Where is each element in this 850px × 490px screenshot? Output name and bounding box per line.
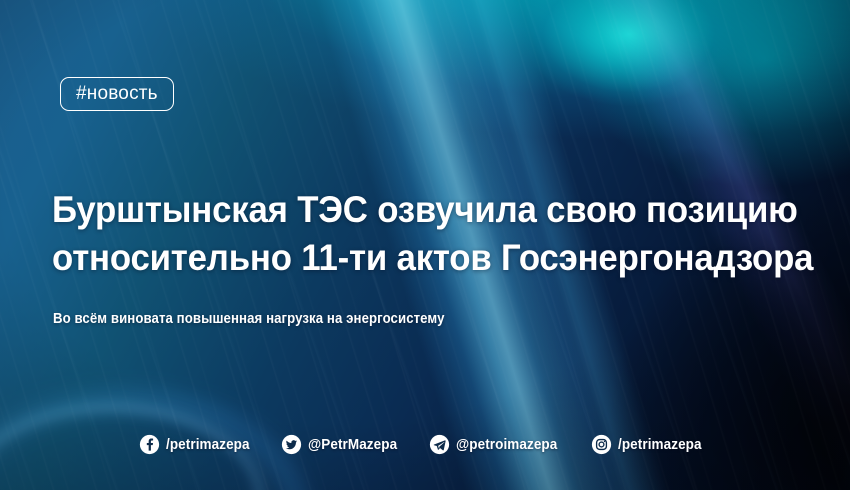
news-banner-card: #новость Бурштынская ТЭС озвучила свою п… — [0, 0, 850, 490]
page-subtitle: Во всём виновата повышенная нагрузка на … — [53, 310, 445, 327]
facebook-icon — [139, 434, 160, 455]
page-title-line-1: Бурштынская ТЭС озвучила свою позицию — [52, 186, 748, 234]
twitter-icon — [281, 434, 302, 455]
social-link-instagram[interactable]: /petrimazepa — [591, 434, 711, 455]
social-links-bar: /petrimazepa @PetrMazepa @petroimazepa — [0, 434, 850, 455]
social-link-telegram[interactable]: @petroimazepa — [429, 434, 569, 455]
instagram-icon — [591, 434, 612, 455]
social-link-twitter[interactable]: @PetrMazepa — [281, 434, 407, 455]
page-title: Бурштынская ТЭС озвучила свою позицию от… — [52, 186, 748, 282]
category-badge[interactable]: #новость — [60, 77, 174, 111]
telegram-icon — [429, 434, 450, 455]
social-handle-facebook: /petrimazepa — [166, 436, 250, 453]
social-handle-twitter: @PetrMazepa — [308, 436, 397, 453]
social-handle-instagram: /petrimazepa — [618, 436, 702, 453]
page-title-line-2: относительно 11-ти актов Госэнергонадзор… — [52, 234, 748, 282]
banner-content: #новость Бурштынская ТЭС озвучила свою п… — [0, 0, 850, 490]
social-handle-telegram: @petroimazepa — [456, 436, 557, 453]
social-link-facebook[interactable]: /petrimazepa — [139, 434, 259, 455]
